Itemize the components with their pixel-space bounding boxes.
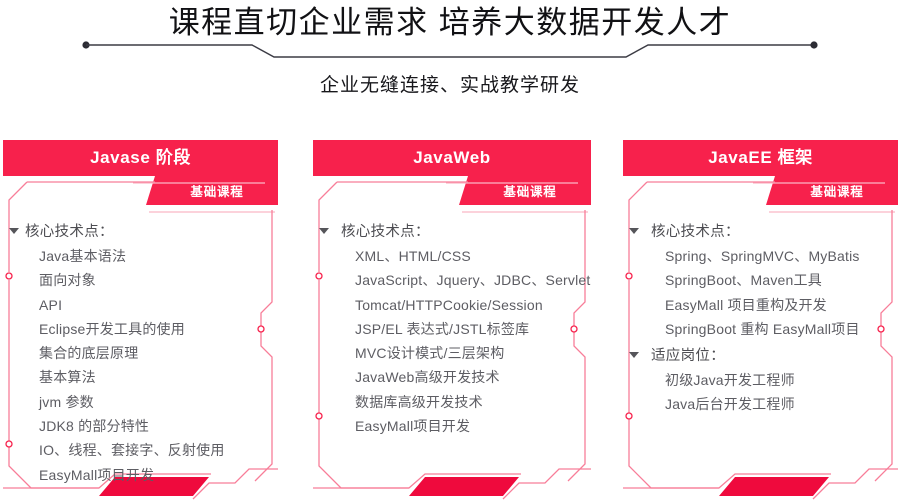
list-item: SpringBoot 重构 EasyMall项目: [623, 317, 898, 341]
card-badge: 基础课程: [142, 176, 278, 205]
card-body: 基础课程 核心技术点： Java基本语法 面向对象 API Eclipse开发工…: [3, 176, 278, 501]
card-group-title: 适应岗位：: [623, 344, 898, 368]
card-badge-label: 基础课程: [455, 176, 591, 205]
page-title: 课程直切企业需求 培养大数据开发人才: [0, 2, 900, 44]
list-item: JavaScript、Jquery、JDBC、Servlet: [313, 268, 591, 292]
card-heading: JavaWeb: [313, 140, 591, 176]
card-badge: 基础课程: [455, 176, 591, 205]
card-body: 基础课程 核心技术点： XML、HTML/CSS JavaScript、Jque…: [313, 176, 591, 501]
triangle-down-icon: [9, 228, 19, 234]
list-item: Eclipse开发工具的使用: [3, 317, 278, 341]
card-group-title-label: 核心技术点：: [25, 224, 114, 240]
page-subtitle: 企业无缝连接、实战教学研发: [0, 72, 900, 100]
card-group-title-label: 适应岗位：: [651, 348, 725, 364]
card-group-title-label: 核心技术点：: [651, 224, 740, 240]
list-item: EasyMall项目开发: [3, 463, 278, 487]
list-item: SpringBoot、Maven工具: [623, 268, 898, 292]
course-card-javase[interactable]: Javase 阶段: [3, 140, 278, 501]
list-item: 面向对象: [3, 268, 278, 292]
card-group: 核心技术点： Spring、SpringMVC、MyBatis SpringBo…: [623, 220, 898, 341]
card-group: 核心技术点： XML、HTML/CSS JavaScript、Jquery、JD…: [313, 220, 591, 438]
list-item: JSP/EL 表达式/JSTL标签库: [313, 317, 591, 341]
triangle-down-icon: [629, 228, 639, 234]
card-group: 适应岗位： 初级Java开发工程师 Java后台开发工程师: [623, 344, 898, 417]
triangle-down-icon: [319, 228, 329, 234]
list-item: MVC设计模式/三层架构: [313, 341, 591, 365]
triangle-down-icon: [629, 352, 639, 358]
course-card-javaweb[interactable]: JavaWeb 基础课: [313, 140, 591, 501]
list-item: JDK8 的部分特性: [3, 414, 278, 438]
title-rule-decoration: [0, 40, 900, 62]
list-item: API: [3, 293, 278, 317]
list-item: EasyMall项目开发: [313, 414, 591, 438]
list-item: Tomcat/HTTPCookie/Session: [313, 293, 591, 317]
course-stage-cards: Javase 阶段: [0, 140, 900, 501]
card-group-title: 核心技术点：: [3, 220, 278, 244]
list-item: 初级Java开发工程师: [623, 368, 898, 392]
list-item: 集合的底层原理: [3, 341, 278, 365]
card-group-title-label: 核心技术点：: [341, 224, 430, 240]
list-item: EasyMall 项目重构及开发: [623, 293, 898, 317]
course-card-javaee[interactable]: JavaEE 框架 基: [623, 140, 898, 501]
list-item: jvm 参数: [3, 390, 278, 414]
card-group-title: 核心技术点：: [313, 220, 591, 244]
list-item: 基本算法: [3, 365, 278, 389]
list-item: Java后台开发工程师: [623, 392, 898, 416]
list-item: XML、HTML/CSS: [313, 244, 591, 268]
card-body: 基础课程 核心技术点： Spring、SpringMVC、MyBatis Spr…: [623, 176, 898, 501]
header: 课程直切企业需求 培养大数据开发人才 企业无缝连接、实战教学研发: [0, 0, 900, 112]
card-group-title: 核心技术点：: [623, 220, 898, 244]
list-item: Spring、SpringMVC、MyBatis: [623, 244, 898, 268]
slide-root: 课程直切企业需求 培养大数据开发人才 企业无缝连接、实战教学研发 Javase …: [0, 0, 900, 501]
list-item: JavaWeb高级开发技术: [313, 365, 591, 389]
card-badge-label: 基础课程: [762, 176, 898, 205]
list-item: IO、线程、套接字、反射使用: [3, 438, 278, 462]
card-heading: Javase 阶段: [3, 140, 278, 176]
list-item: Java基本语法: [3, 244, 278, 268]
card-badge: 基础课程: [762, 176, 898, 205]
card-badge-label: 基础课程: [142, 176, 278, 205]
card-group: 核心技术点： Java基本语法 面向对象 API Eclipse开发工具的使用 …: [3, 220, 278, 487]
list-item: 数据库高级开发技术: [313, 390, 591, 414]
card-heading: JavaEE 框架: [623, 140, 898, 176]
